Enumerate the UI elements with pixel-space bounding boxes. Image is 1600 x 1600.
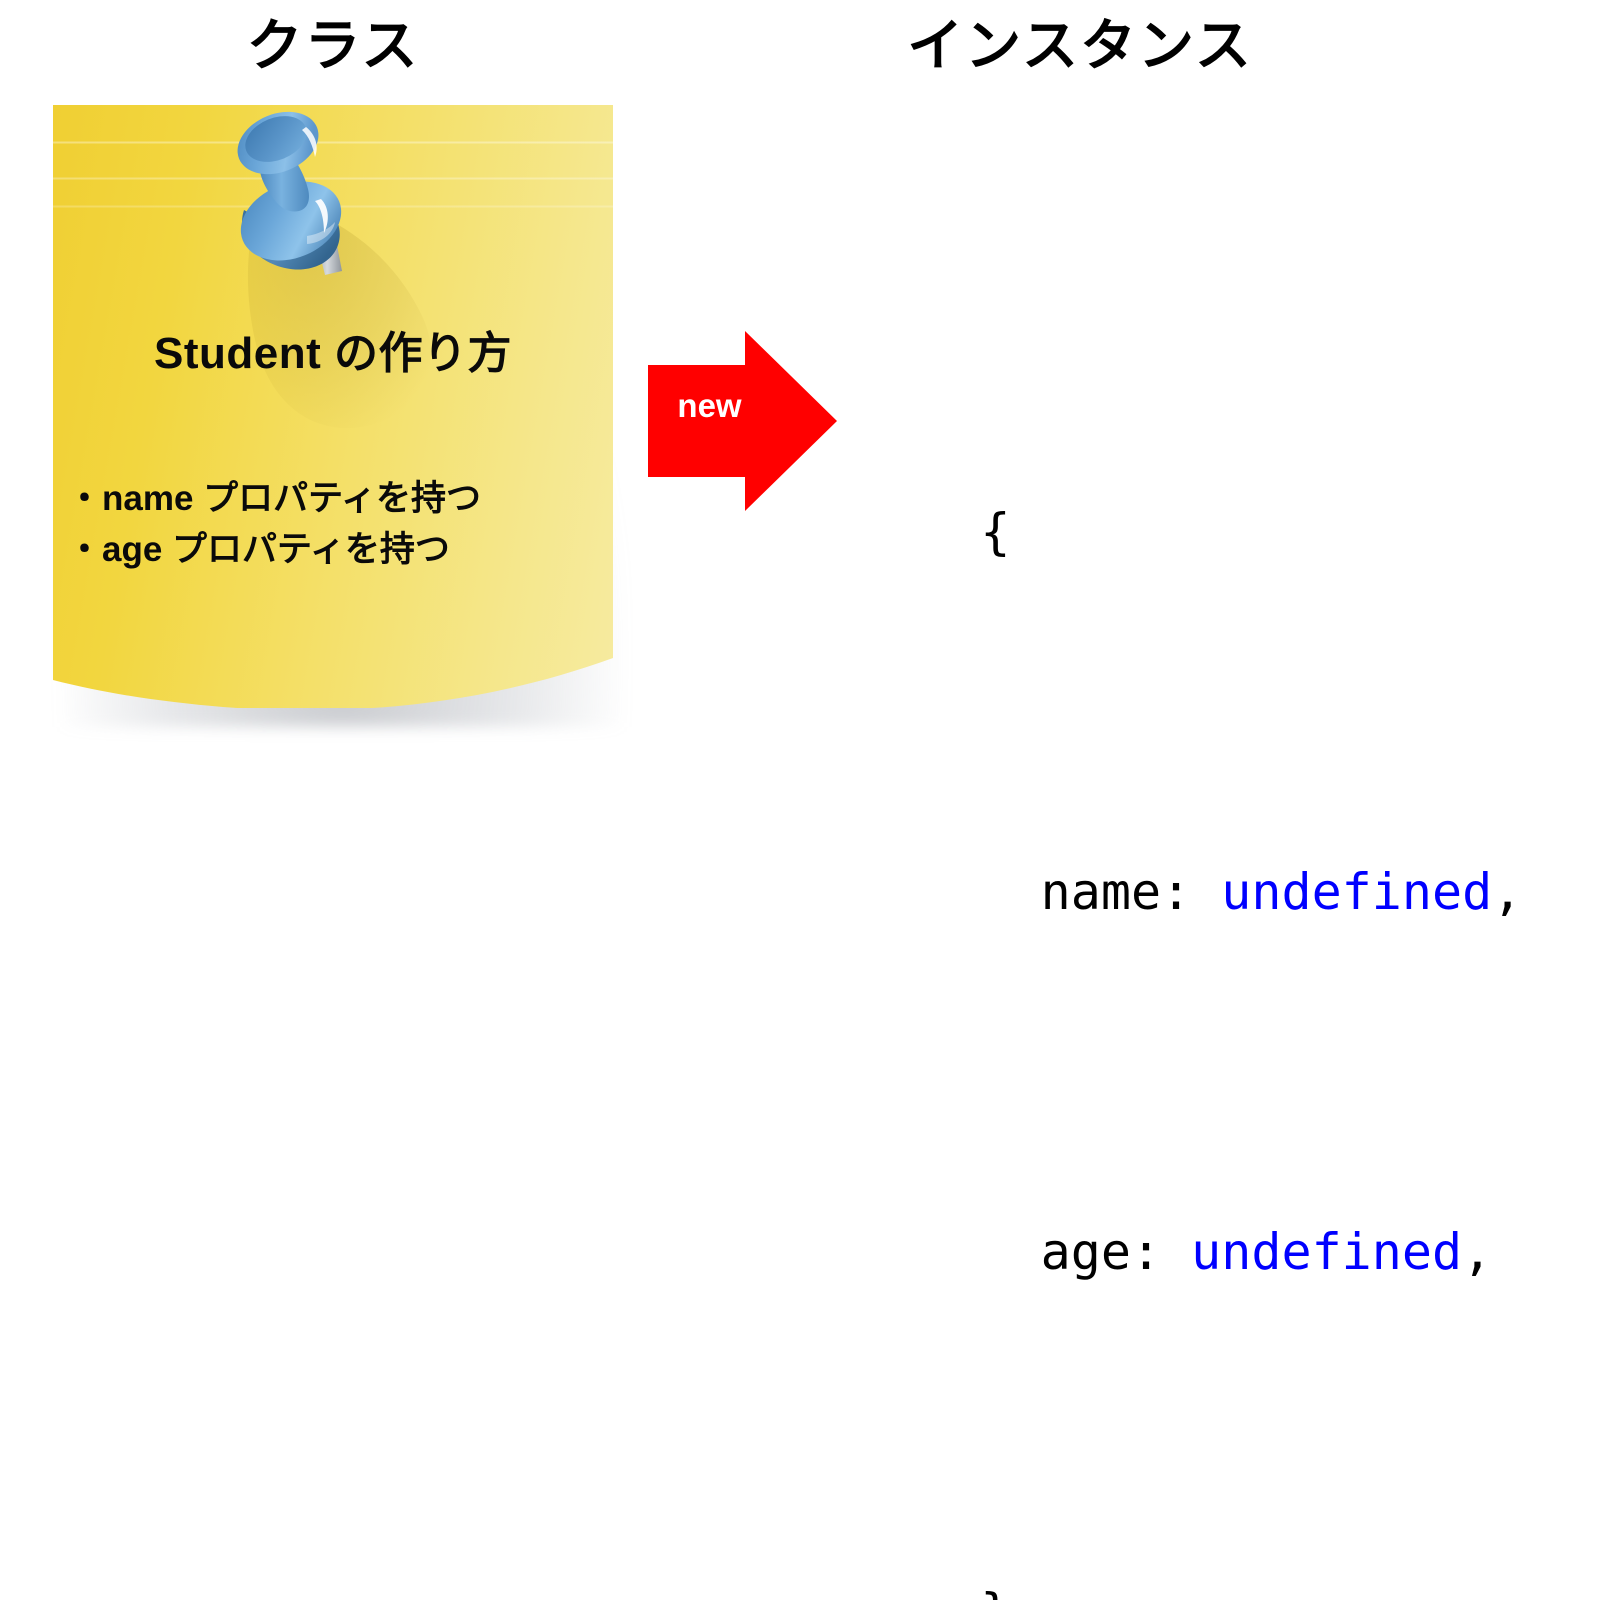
- column-heading-instance: インスタンス: [760, 14, 1400, 78]
- code-tail: ,: [1462, 1223, 1492, 1281]
- new-arrow: new: [645, 328, 840, 514]
- code-key: }: [980, 1583, 1010, 1600]
- code-line: {: [860, 424, 1522, 640]
- code-line: age: undefined,: [860, 1144, 1522, 1360]
- instance-object-code: { name: undefined, age: undefined, }: [860, 280, 1522, 1600]
- code-indent: [980, 863, 1040, 921]
- code-key: age:: [1041, 1223, 1192, 1281]
- column-heading-class: クラス: [0, 14, 666, 78]
- code-tail: ,: [1492, 863, 1522, 921]
- code-value: undefined: [1221, 863, 1492, 921]
- code-indent: [980, 1223, 1040, 1281]
- code-line: name: undefined,: [860, 784, 1522, 1000]
- code-key: name:: [1041, 863, 1222, 921]
- sticky-note-bullet-item: ・age プロパティを持つ: [67, 524, 613, 575]
- sticky-note-bullet-list: ・name プロパティを持つ ・age プロパティを持つ: [67, 473, 613, 575]
- code-key: {: [980, 503, 1010, 561]
- sticky-note-title: Student の作り方: [53, 317, 613, 381]
- pushpin-icon: [203, 103, 403, 333]
- new-arrow-label: new: [657, 386, 762, 426]
- code-value: undefined: [1191, 1223, 1462, 1281]
- code-line: }: [860, 1504, 1522, 1600]
- sticky-note-class-definition: Student の作り方 ・name プロパティを持つ ・age プロパティを持…: [53, 105, 613, 720]
- sticky-note-bullet-item: ・name プロパティを持つ: [67, 473, 613, 524]
